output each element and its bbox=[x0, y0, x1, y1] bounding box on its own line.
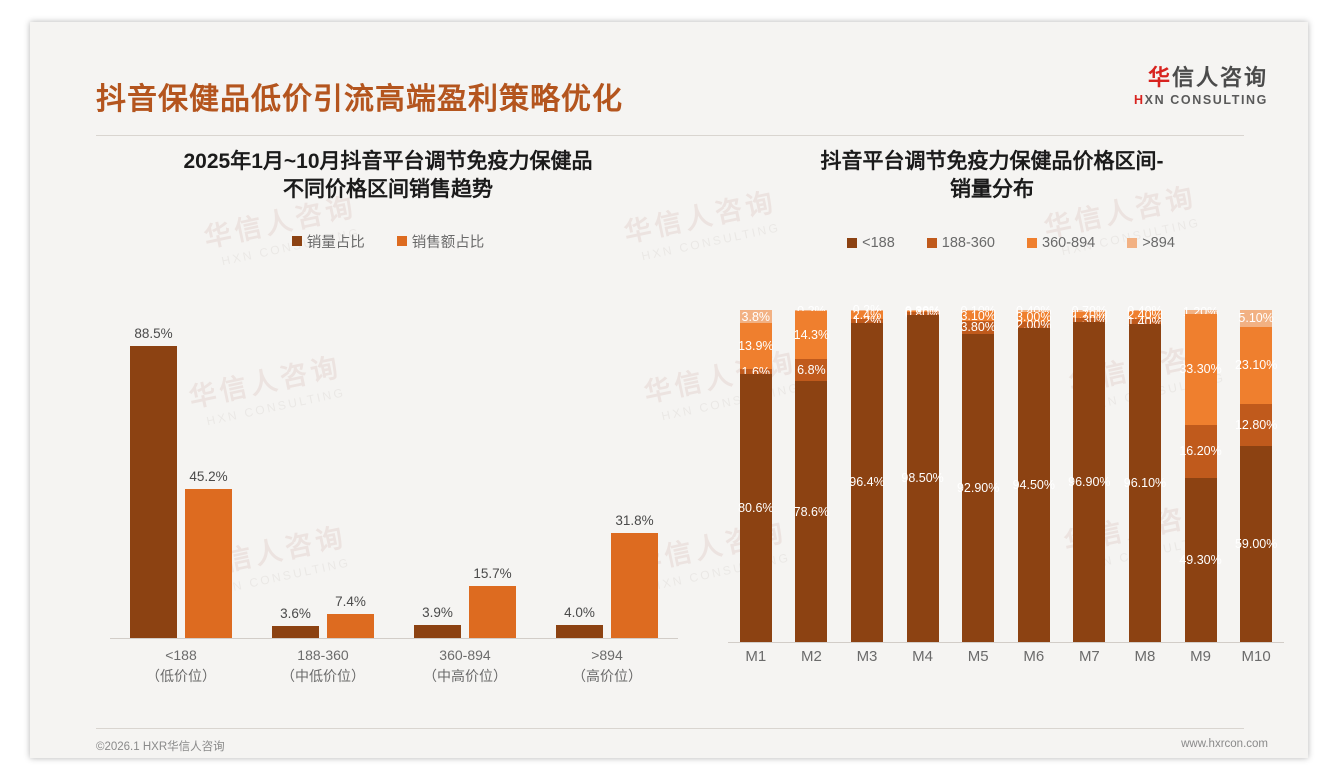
stacked-bar-column[interactable]: 0.40%3.00%2.00%94.50% bbox=[1006, 310, 1062, 642]
legend-swatch-icon bbox=[1027, 238, 1037, 248]
stacked-segment[interactable]: 96.90% bbox=[1073, 322, 1105, 642]
stacked-bar[interactable]: 5.10%23.10%12.80%59.00% bbox=[1240, 310, 1272, 642]
stacked-segment[interactable]: 16.20% bbox=[1185, 425, 1217, 479]
legend-swatch-icon bbox=[1127, 238, 1137, 248]
x-axis-tick-label: M1 bbox=[728, 648, 784, 665]
stacked-segment[interactable]: 78.6% bbox=[795, 381, 827, 642]
x-axis-tick-label: M4 bbox=[895, 648, 951, 665]
bar-group: 88.5%45.2% bbox=[110, 308, 252, 638]
logo-english-rest: XN CONSULTING bbox=[1145, 93, 1268, 107]
right-chart-legend: <188188-360360-894>894 bbox=[730, 235, 1292, 251]
bar-column[interactable]: 3.6% bbox=[272, 308, 319, 638]
segment-value-label: 3.80% bbox=[960, 320, 995, 334]
stacked-bar[interactable]: 3.8%13.9%1.6%80.6% bbox=[740, 310, 772, 642]
legend-item-sales-volume[interactable]: 销量占比 bbox=[292, 231, 365, 252]
footer-divider bbox=[96, 728, 1244, 729]
segment-value-label: 96.4% bbox=[849, 475, 884, 489]
x-axis-tick-label: >894（高价位） bbox=[536, 645, 678, 687]
logo-chinese: 华信人咨询 bbox=[1134, 66, 1268, 90]
right-chart-axis-line bbox=[728, 642, 1284, 643]
x-axis-sublabel: （低价位） bbox=[110, 666, 252, 687]
stacked-bar-column[interactable]: 5.10%23.10%12.80%59.00% bbox=[1228, 310, 1284, 642]
stacked-bar[interactable]: 0.2%14.3%6.8%78.6% bbox=[795, 310, 827, 642]
stacked-bar-column[interactable]: 0.40%2.40%1.40%96.10% bbox=[1117, 310, 1173, 642]
bar-column[interactable]: 3.9% bbox=[414, 308, 461, 638]
stacked-segment[interactable]: 14.3% bbox=[795, 311, 827, 358]
x-axis-range: 360-894 bbox=[394, 645, 536, 666]
segment-value-label: 96.10% bbox=[1124, 476, 1166, 490]
bar-group: 3.9%15.7% bbox=[394, 308, 536, 638]
x-axis-tick-label: M5 bbox=[950, 648, 1006, 665]
right-chart-title: 抖音平台调节免疫力保健品价格区间- 销量分布 bbox=[732, 148, 1252, 205]
bar-column[interactable]: 31.8% bbox=[611, 308, 658, 638]
segment-value-label: 80.6% bbox=[738, 501, 773, 515]
bar-value-label: 3.9% bbox=[422, 605, 453, 620]
bar[interactable] bbox=[130, 346, 177, 638]
left-chart-panel: 2025年1月~10月抖音平台调节免疫力保健品 不同价格区间销售趋势 销量占比 … bbox=[88, 148, 688, 698]
legend-label: 销售额占比 bbox=[412, 231, 485, 252]
legend-item->894[interactable]: >894 bbox=[1127, 235, 1175, 251]
bar-value-label: 4.0% bbox=[564, 605, 595, 620]
left-chart-x-labels: <188（低价位）188-360（中低价位）360-894（中高价位）>894（… bbox=[110, 645, 678, 687]
segment-value-label: 12.80% bbox=[1235, 418, 1277, 432]
stacked-segment[interactable]: 96.10% bbox=[1129, 324, 1161, 642]
stacked-bar-column[interactable]: 0.10%3.10%3.80%92.90% bbox=[950, 310, 1006, 642]
page-title: 抖音保健品低价引流高端盈利策略优化 bbox=[96, 74, 623, 118]
stacked-bar[interactable]: 0.40%2.40%1.40%96.10% bbox=[1129, 310, 1161, 642]
slide: 华信人咨询 HXN CONSULTING 华信人咨询 HXN CONSULTIN… bbox=[30, 22, 1308, 758]
segment-value-label: 96.90% bbox=[1068, 475, 1110, 489]
stacked-bar-column[interactable]: 0.2%2.4%1.2%96.4% bbox=[839, 310, 895, 642]
left-chart-plot: 88.5%45.2%3.6%7.4%3.9%15.7%4.0%31.8% bbox=[110, 308, 678, 638]
x-axis-tick-label: M3 bbox=[839, 648, 895, 665]
x-axis-tick-label: M7 bbox=[1062, 648, 1118, 665]
segment-value-label: 5.10% bbox=[1238, 311, 1273, 325]
bar-column[interactable]: 88.5% bbox=[130, 308, 177, 638]
legend-item-<188[interactable]: <188 bbox=[847, 235, 895, 251]
left-chart-title-line1: 2025年1月~10月抖音平台调节免疫力保健品 bbox=[108, 148, 668, 176]
footer-copyright: ©2026.1 HXR华信人咨询 bbox=[96, 738, 225, 754]
segment-value-label: 3.8% bbox=[742, 310, 771, 324]
x-axis-tick-label: M2 bbox=[784, 648, 840, 665]
right-chart-x-labels: M1M2M3M4M5M6M7M8M9M10 bbox=[728, 648, 1284, 665]
segment-value-label: 23.10% bbox=[1235, 358, 1277, 372]
segment-value-label: 49.30% bbox=[1179, 553, 1221, 567]
bar-group: 4.0%31.8% bbox=[536, 308, 678, 638]
right-chart-panel: 抖音平台调节免疫力保健品价格区间- 销量分布 <188188-360360-89… bbox=[720, 148, 1292, 698]
segment-value-label: 98.50% bbox=[901, 471, 943, 485]
legend-swatch-icon bbox=[292, 236, 302, 246]
stacked-segment[interactable]: 5.10% bbox=[1240, 310, 1272, 327]
segment-value-label: 59.00% bbox=[1235, 537, 1277, 551]
bar-column[interactable]: 7.4% bbox=[327, 308, 374, 638]
stacked-bar[interactable]: 0.40%3.00%2.00%94.50% bbox=[1018, 310, 1050, 642]
legend-label: 销量占比 bbox=[307, 231, 365, 252]
stacked-segment[interactable]: 2.00% bbox=[1018, 322, 1050, 329]
bar-column[interactable]: 4.0% bbox=[556, 308, 603, 638]
logo-hua-char: 华 bbox=[1148, 65, 1172, 90]
header-divider bbox=[96, 135, 1244, 136]
legend-label: >894 bbox=[1142, 235, 1175, 251]
stacked-bar-column[interactable]: 0.30%0.30%0.80%98.50% bbox=[895, 310, 951, 642]
stacked-segment[interactable]: 13.9% bbox=[740, 323, 772, 369]
stacked-segment[interactable]: 3.80% bbox=[962, 321, 994, 334]
stacked-segment[interactable]: 80.6% bbox=[740, 374, 772, 642]
bar-value-label: 88.5% bbox=[134, 326, 172, 341]
x-axis-tick-label: M9 bbox=[1173, 648, 1229, 665]
stacked-bar-column[interactable]: 3.8%13.9%1.6%80.6% bbox=[728, 310, 784, 642]
left-chart-title-line2: 不同价格区间销售趋势 bbox=[108, 176, 668, 204]
bar-value-label: 15.7% bbox=[473, 566, 511, 581]
stacked-bar-column[interactable]: 0.2%14.3%6.8%78.6% bbox=[784, 310, 840, 642]
x-axis-sublabel: （中高价位） bbox=[394, 666, 536, 687]
bar-column[interactable]: 45.2% bbox=[185, 308, 232, 638]
stacked-segment[interactable]: 6.8% bbox=[795, 359, 827, 382]
legend-label: <188 bbox=[862, 235, 895, 251]
segment-value-label: 16.20% bbox=[1179, 444, 1221, 458]
stacked-segment[interactable]: 92.90% bbox=[962, 334, 994, 642]
right-chart-title-line1: 抖音平台调节免疫力保健品价格区间- bbox=[732, 148, 1252, 176]
stacked-bar[interactable]: 1.20%33.30%16.20%49.30% bbox=[1185, 310, 1217, 642]
legend-item-360-894[interactable]: 360-894 bbox=[1027, 235, 1095, 251]
x-axis-range: >894 bbox=[536, 645, 678, 666]
stacked-bar[interactable]: 0.2%2.4%1.2%96.4% bbox=[851, 310, 883, 642]
footer-website[interactable]: www.hxrcon.com bbox=[1181, 738, 1268, 750]
legend-label: 188-360 bbox=[942, 235, 995, 251]
legend-swatch-icon bbox=[847, 238, 857, 248]
bar[interactable] bbox=[556, 625, 603, 638]
x-axis-range: 188-360 bbox=[252, 645, 394, 666]
bar[interactable] bbox=[327, 614, 374, 638]
stacked-segment[interactable]: 23.10% bbox=[1240, 327, 1272, 404]
legend-label: 360-894 bbox=[1042, 235, 1095, 251]
segment-value-label: 94.50% bbox=[1013, 478, 1055, 492]
stacked-segment[interactable]: 33.30% bbox=[1185, 314, 1217, 425]
x-axis-tick-label: M10 bbox=[1228, 648, 1284, 665]
stacked-bar[interactable]: 0.10%3.10%3.80%92.90% bbox=[962, 310, 994, 642]
bar[interactable] bbox=[469, 586, 516, 638]
bar[interactable] bbox=[272, 626, 319, 638]
bar-value-label: 45.2% bbox=[189, 469, 227, 484]
x-axis-tick-label: M6 bbox=[1006, 648, 1062, 665]
x-axis-tick-label: M8 bbox=[1117, 648, 1173, 665]
left-chart-legend: 销量占比 销售额占比 bbox=[88, 231, 688, 252]
stacked-segment[interactable]: 98.50% bbox=[907, 315, 939, 642]
segment-value-label: 78.6% bbox=[794, 505, 829, 519]
legend-item-sales-amount[interactable]: 销售额占比 bbox=[397, 231, 485, 252]
stacked-segment[interactable]: 96.4% bbox=[851, 323, 883, 642]
bar-value-label: 3.6% bbox=[280, 606, 311, 621]
bar[interactable] bbox=[185, 489, 232, 638]
right-chart-plot: 3.8%13.9%1.6%80.6%0.2%14.3%6.8%78.6%0.2%… bbox=[728, 310, 1284, 642]
bar-value-label: 31.8% bbox=[615, 513, 653, 528]
x-axis-sublabel: （高价位） bbox=[536, 666, 678, 687]
x-axis-tick-label: <188（低价位） bbox=[110, 645, 252, 687]
x-axis-tick-label: 188-360（中低价位） bbox=[252, 645, 394, 687]
x-axis-range: <188 bbox=[110, 645, 252, 666]
stacked-segment[interactable]: 49.30% bbox=[1185, 478, 1217, 642]
x-axis-sublabel: （中低价位） bbox=[252, 666, 394, 687]
segment-value-label: 92.90% bbox=[957, 481, 999, 495]
logo-english: HXN CONSULTING bbox=[1134, 93, 1268, 107]
stacked-bar[interactable]: 0.70%1.70%1.30%96.90% bbox=[1073, 310, 1105, 642]
right-chart-title-line2: 销量分布 bbox=[732, 176, 1252, 204]
legend-item-188-360[interactable]: 188-360 bbox=[927, 235, 995, 251]
stacked-bar-column[interactable]: 1.20%33.30%16.20%49.30% bbox=[1173, 310, 1229, 642]
bar-column[interactable]: 15.7% bbox=[469, 308, 516, 638]
legend-swatch-icon bbox=[397, 236, 407, 246]
logo-h-char: H bbox=[1134, 93, 1145, 107]
logo-chinese-rest: 信人咨询 bbox=[1172, 65, 1268, 90]
left-chart-title: 2025年1月~10月抖音平台调节免疫力保健品 不同价格区间销售趋势 bbox=[108, 148, 668, 205]
stacked-bar[interactable]: 0.30%0.30%0.80%98.50% bbox=[907, 310, 939, 642]
stacked-segment[interactable]: 3.8% bbox=[740, 310, 772, 323]
bar-group: 3.6%7.4% bbox=[252, 308, 394, 638]
stacked-bar-column[interactable]: 0.70%1.70%1.30%96.90% bbox=[1062, 310, 1118, 642]
x-axis-tick-label: 360-894（中高价位） bbox=[394, 645, 536, 687]
stacked-segment[interactable]: 12.80% bbox=[1240, 404, 1272, 446]
segment-value-label: 6.8% bbox=[797, 363, 826, 377]
stacked-segment[interactable]: 59.00% bbox=[1240, 446, 1272, 642]
legend-swatch-icon bbox=[927, 238, 937, 248]
left-chart-axis-line bbox=[110, 638, 678, 639]
stacked-segment[interactable]: 94.50% bbox=[1018, 328, 1050, 642]
bar-value-label: 7.4% bbox=[335, 594, 366, 609]
segment-value-label: 33.30% bbox=[1179, 362, 1221, 376]
brand-logo: 华信人咨询 HXN CONSULTING bbox=[1134, 66, 1268, 107]
bar[interactable] bbox=[611, 533, 658, 638]
segment-value-label: 14.3% bbox=[794, 328, 829, 342]
bar[interactable] bbox=[414, 625, 461, 638]
segment-value-label: 13.9% bbox=[738, 339, 773, 353]
